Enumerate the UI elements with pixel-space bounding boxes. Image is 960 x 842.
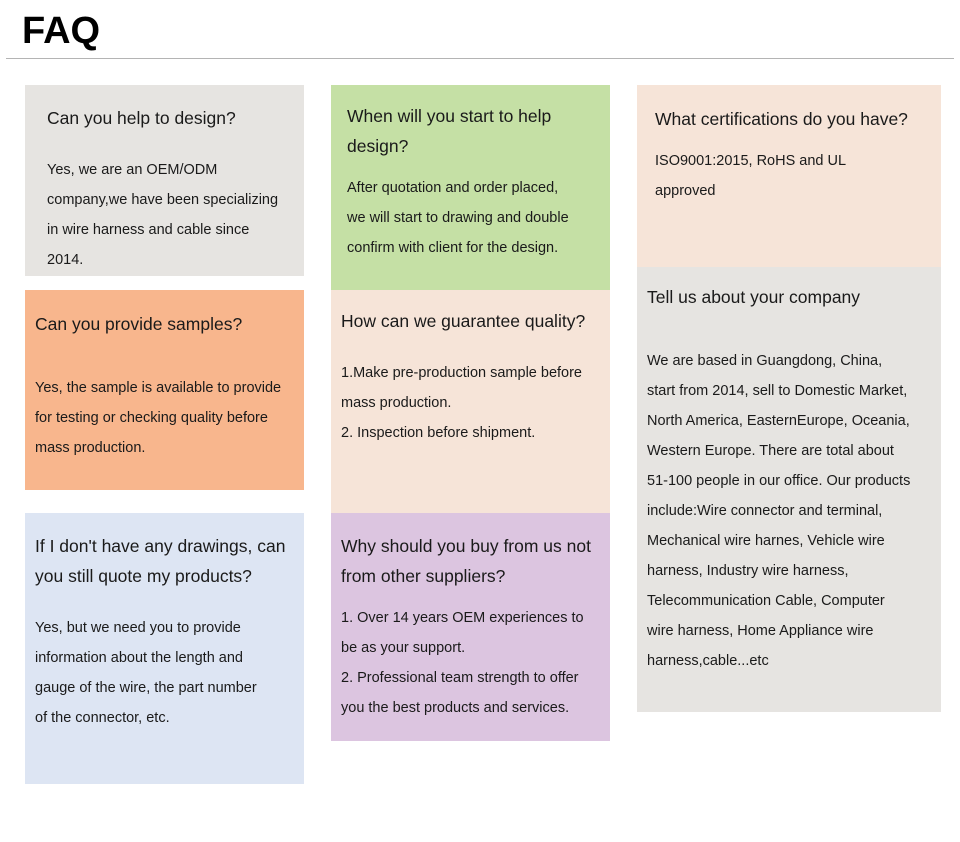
faq-card-grid: Can you help to design? Yes, we are an O… — [0, 59, 960, 842]
faq-card-quality: How can we guarantee quality? 1.Make pre… — [331, 290, 610, 548]
faq-card-samples: Can you provide samples? Yes, the sample… — [25, 290, 304, 490]
faq-card-company: Tell us about your company We are based … — [637, 267, 941, 712]
faq-question: When will you start to help design? — [347, 101, 594, 161]
faq-answer: Yes, we are an OEM/ODM company,we have b… — [47, 155, 282, 275]
page-header: FAQ — [0, 0, 960, 59]
faq-question: Can you help to design? — [47, 103, 282, 133]
faq-question: How can we guarantee quality? — [341, 306, 598, 336]
faq-card-why-buy: Why should you buy from us not from othe… — [331, 513, 610, 741]
faq-card-certifications: What certifications do you have? ISO9001… — [637, 85, 941, 274]
faq-question: Can you provide samples? — [35, 309, 294, 339]
faq-question: If I don't have any drawings, can you st… — [35, 531, 292, 591]
faq-card-design: Can you help to design? Yes, we are an O… — [25, 85, 304, 276]
faq-answer: ISO9001:2015, RoHS and UL approved — [655, 146, 923, 206]
faq-question: Tell us about your company — [647, 282, 931, 312]
faq-answer: Yes, the sample is available to provide … — [35, 373, 294, 463]
faq-question: What certifications do you have? — [655, 104, 923, 134]
faq-question: Why should you buy from us not from othe… — [341, 531, 598, 591]
faq-card-drawings: If I don't have any drawings, can you st… — [25, 513, 304, 784]
faq-card-when-design: When will you start to help design? Afte… — [331, 85, 610, 303]
faq-answer: Yes, but we need you to provide informat… — [35, 613, 292, 733]
faq-answer: 1.Make pre-production sample before mass… — [341, 358, 598, 448]
faq-answer: We are based in Guangdong, China, start … — [647, 346, 931, 676]
faq-answer: 1. Over 14 years OEM experiences to be a… — [341, 603, 598, 723]
page-title: FAQ — [22, 9, 100, 53]
faq-answer: After quotation and order placed, we wil… — [347, 173, 594, 263]
